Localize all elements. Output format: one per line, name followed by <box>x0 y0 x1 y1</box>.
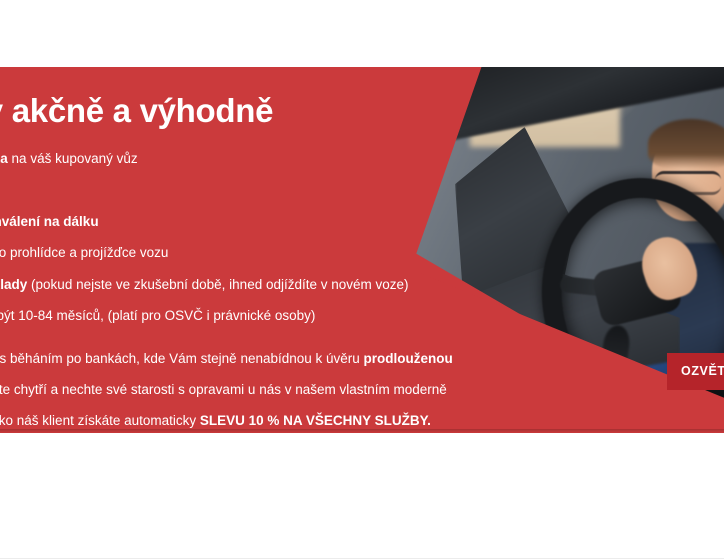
promo-text: ocenný čas běháním po bankách, kde Vám s… <box>0 351 364 366</box>
benefit-item: louvy až po prohlídce a projížďce vozu <box>0 245 598 262</box>
benefit-item: é předschválení na dálku <box>0 214 598 231</box>
benefit-item: tek může být 10-84 měsíců, (platí pro OS… <box>0 308 598 325</box>
benefit-text: louvy až po prohlídce a projížďce vozu <box>0 245 168 260</box>
benefit-item: e dva doklady (pokud nejste ve zkušební … <box>0 277 598 294</box>
page-root: átky akčně a výhodně ená záruka na váš k… <box>0 0 724 560</box>
promo-bold: prodlouženou <box>364 351 453 366</box>
photo-driver-hair <box>648 119 724 169</box>
page-bottom-whitespace <box>0 433 724 560</box>
benefits-list: ená záruka na váš kupovaný vůz od 0 % é … <box>0 151 598 325</box>
promo-line: ocenný čas běháním po bankách, kde Vám s… <box>0 351 598 368</box>
benefit-text: tek může být 10-84 měsíců, (platí pro OS… <box>0 308 315 323</box>
benefit-item: od 0 % <box>0 183 598 200</box>
promo-line: vozu! Buďte chytří a nechte své starosti… <box>0 382 598 399</box>
promo-bold: SLEVU 10 % NA VŠECHNY SLUŽBY. <box>200 413 431 428</box>
promo-text: isu, kde jako náš klient získáte automat… <box>0 413 200 428</box>
page-bottom-hairline <box>0 558 724 559</box>
promo-text: vozu! Buďte chytří a nechte své starosti… <box>0 382 447 397</box>
benefit-text: na váš kupovaný vůz <box>8 151 138 166</box>
page-top-whitespace <box>0 0 724 67</box>
banner-headline: átky akčně a výhodně <box>0 67 598 129</box>
benefit-item: ená záruka na váš kupovaný vůz <box>0 151 598 168</box>
benefit-bold: e dva doklady <box>0 277 27 292</box>
promo-line: isu, kde jako náš klient získáte automat… <box>0 413 598 430</box>
benefit-bold: ená záruka <box>0 151 8 166</box>
benefit-bold: é předschválení na dálku <box>0 214 99 229</box>
promo-paragraph: ocenný čas běháním po bankách, kde Vám s… <box>0 351 598 430</box>
promo-banner[interactable]: átky akčně a výhodně ená záruka na váš k… <box>0 67 724 433</box>
contact-us-button[interactable]: OZVĚTE SE <box>667 353 724 390</box>
benefit-text: (pokud nejste ve zkušební době, ihned od… <box>27 277 408 292</box>
banner-content: átky akčně a výhodně ená záruka na váš k… <box>0 67 598 430</box>
